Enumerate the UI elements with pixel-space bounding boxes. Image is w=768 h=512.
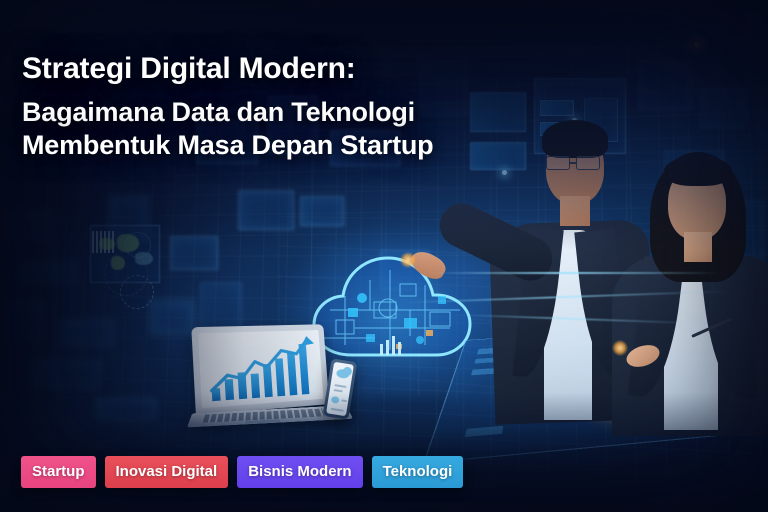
title-line-3: Membentuk Masa Depan Startup (22, 129, 522, 162)
finger-glow (612, 340, 628, 356)
cloud-icon (342, 366, 352, 376)
tag-inovasi-digital[interactable]: Inovasi Digital (105, 456, 229, 488)
light-streak (430, 272, 720, 274)
page-title: Strategi Digital Modern: Bagaimana Data … (22, 52, 522, 162)
banner-image: Strategi Digital Modern: Bagaimana Data … (0, 0, 768, 512)
tag-list: Startup Inovasi Digital Bisnis Modern Te… (21, 456, 463, 488)
finger-glow (400, 252, 416, 268)
text-line (334, 384, 346, 388)
tag-bisnis-modern[interactable]: Bisnis Modern (237, 456, 362, 488)
bottom-overlay (0, 392, 768, 512)
title-line-2: Bagaimana Data dan Teknologi (22, 96, 522, 129)
tag-startup[interactable]: Startup (21, 456, 96, 488)
title-line-1: Strategi Digital Modern: (22, 52, 522, 86)
tag-teknologi[interactable]: Teknologi (372, 456, 464, 488)
